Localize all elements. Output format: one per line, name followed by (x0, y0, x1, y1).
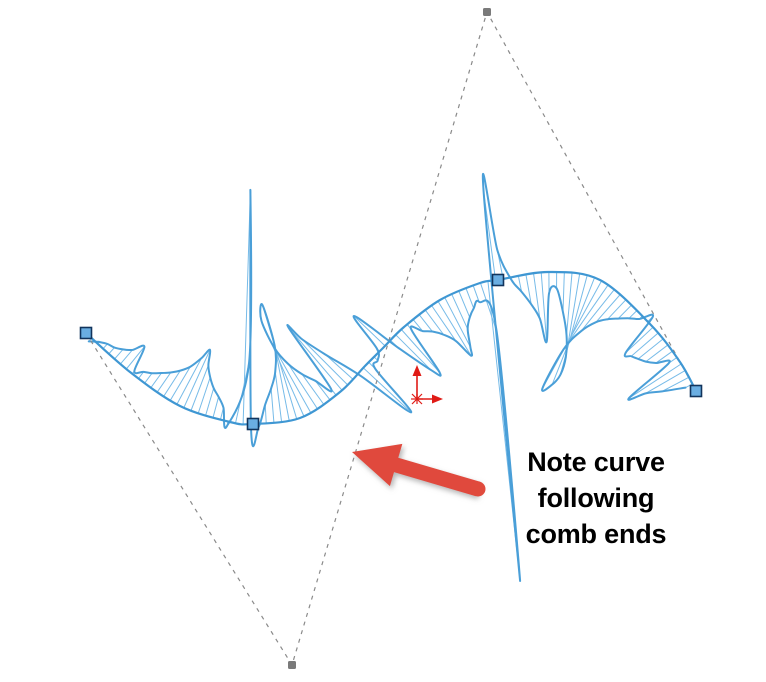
comb-tooth (109, 348, 115, 354)
comb-tooth (184, 350, 210, 408)
comb-tooth (288, 364, 317, 409)
callout-arrow-body (352, 444, 480, 496)
comb-tooth (473, 285, 479, 301)
comb-tooth (198, 377, 210, 413)
control-point-cp-2[interactable] (248, 419, 259, 430)
comb-tooth (354, 316, 385, 346)
callout-arrow (352, 444, 486, 497)
x-axis-arrowhead (432, 395, 443, 404)
annotation-text: Note curve following comb ends (496, 444, 696, 552)
curvature-comb-drawing (0, 0, 766, 682)
comb-tooth (275, 348, 311, 413)
comb-tooth (629, 311, 637, 319)
comb-tooth (120, 350, 132, 364)
polygon-node-apex-bottom[interactable] (288, 661, 296, 669)
comb-tooth (581, 290, 614, 332)
control-point-cp-3[interactable] (493, 275, 504, 286)
comb-tooth (206, 388, 214, 415)
callout-arrow-tail-cap (471, 482, 486, 497)
comb-tooth (271, 388, 274, 422)
comb-tooth (445, 297, 471, 347)
drawing-canvas-stage: Note curve following comb ends (0, 0, 766, 682)
comb-tooth (213, 397, 219, 418)
comb-tooth (145, 373, 152, 383)
control-point-cp-1[interactable] (81, 328, 92, 339)
comb-tooth (363, 368, 411, 413)
y-axis-arrowhead (413, 365, 422, 376)
comb-tooth (115, 349, 124, 359)
comb-tooth (177, 358, 202, 404)
polygon-node-apex-top[interactable] (483, 8, 491, 16)
comb-tooth (631, 333, 658, 356)
comb-tooth (638, 339, 663, 359)
control-point-cp-4[interactable] (691, 386, 702, 397)
comb-tooth (452, 294, 468, 329)
comb-tooth (466, 288, 474, 308)
comb-tooth (151, 373, 162, 388)
comb-tooth (401, 329, 439, 372)
comb-tooth (608, 300, 626, 320)
comb-tooth (646, 345, 668, 362)
comb-tooth (563, 272, 564, 312)
comb-tooth (618, 305, 631, 319)
comb-tooth (164, 371, 181, 397)
spline-curve (86, 272, 696, 424)
